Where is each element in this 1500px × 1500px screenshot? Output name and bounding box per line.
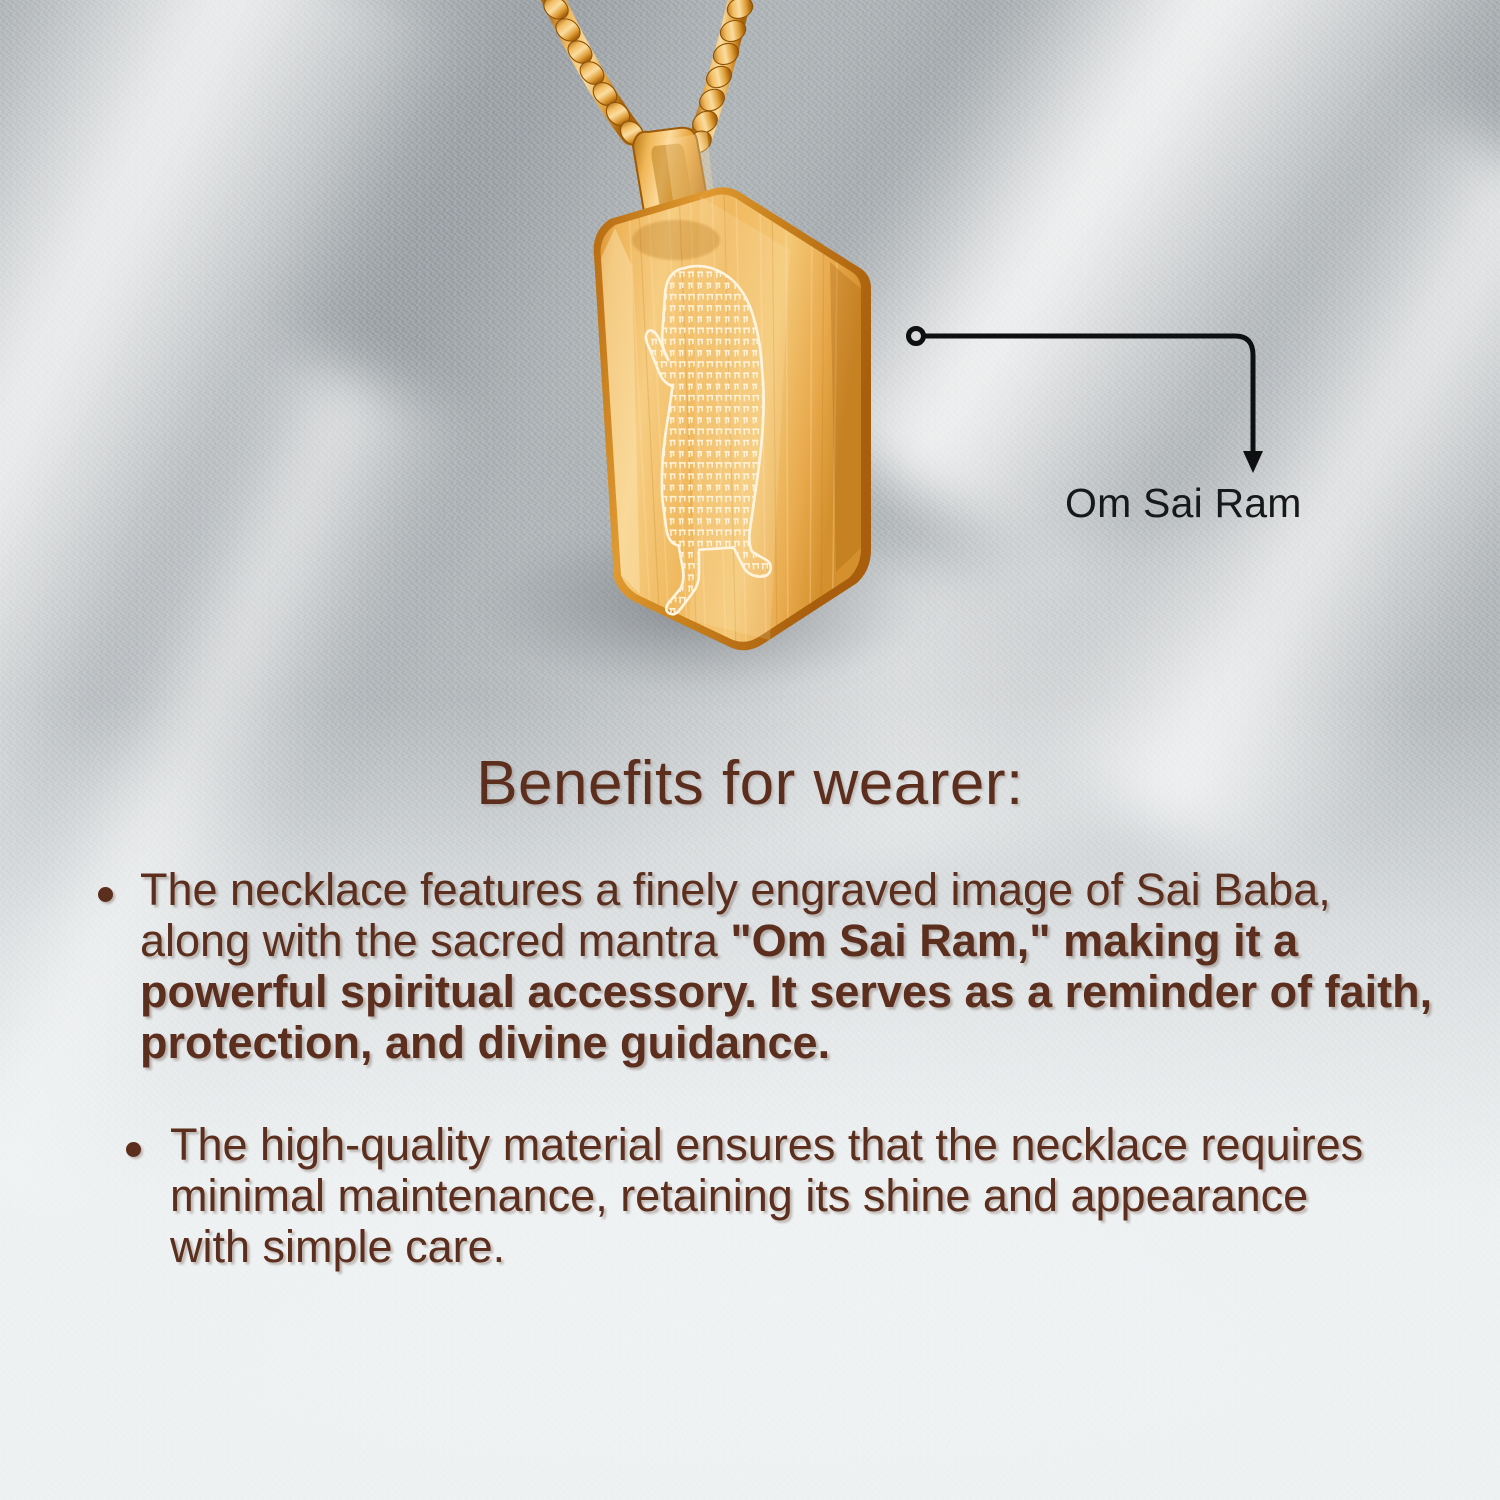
benefits-list: The necklace features a finely engraved …	[0, 865, 1500, 1273]
callout-arrowhead	[1243, 451, 1263, 473]
bullet-dot-icon	[98, 887, 113, 902]
benefit-item: The necklace features a finely engraved …	[140, 865, 1444, 1068]
callout-om-sai-ram: Om Sai Ram	[905, 325, 1325, 555]
benefit-item: The high-quality material ensures that t…	[170, 1120, 1380, 1273]
benefits-section: Benefits for wearer: The necklace featur…	[0, 748, 1500, 1273]
benefit-text-lead: The high-quality material ensures that t…	[170, 1119, 1363, 1272]
callout-label: Om Sai Ram	[1065, 480, 1302, 527]
bullet-dot-icon	[126, 1142, 141, 1157]
infographic-canvas: Om Sai Ram Benefits for wearer: The neck…	[0, 0, 1500, 1500]
callout-anchor-dot	[909, 329, 924, 344]
benefits-title: Benefits for wearer:	[0, 748, 1500, 819]
